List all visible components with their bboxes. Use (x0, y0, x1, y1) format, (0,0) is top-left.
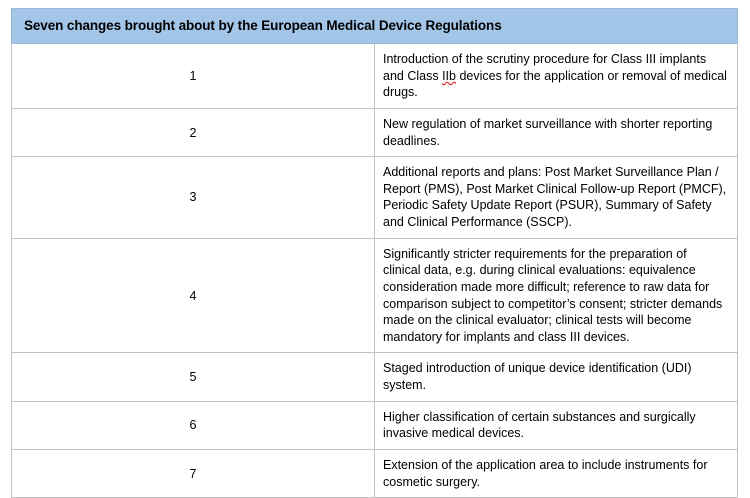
document-page: Seven changes brought about by the Europ… (0, 0, 750, 440)
row-text: Additional reports and plans: Post Marke… (375, 157, 738, 239)
row-text: Extension of the application area to inc… (375, 449, 738, 497)
table-row: 5 Staged introduction of unique device i… (12, 353, 738, 401)
table-header-row: Seven changes brought about by the Europ… (12, 9, 738, 44)
table-row: 6 Higher classification of certain subst… (12, 401, 738, 449)
row-text: Significantly stricter requirements for … (375, 238, 738, 353)
regulations-table: Seven changes brought about by the Europ… (11, 8, 738, 498)
row-number: 5 (12, 353, 375, 401)
row-text: Introduction of the scrutiny procedure f… (375, 44, 738, 109)
row-text: New regulation of market surveillance wi… (375, 108, 738, 156)
table-title-cell: Seven changes brought about by the Europ… (12, 9, 738, 44)
row-number: 1 (12, 44, 375, 109)
table-row: 4 Significantly stricter requirements fo… (12, 238, 738, 353)
table-row: 3 Additional reports and plans: Post Mar… (12, 157, 738, 239)
table-row: 2 New regulation of market surveillance … (12, 108, 738, 156)
row-text: Higher classification of certain substan… (375, 401, 738, 449)
row-number: 2 (12, 108, 375, 156)
row-number: 4 (12, 238, 375, 353)
row-number: 6 (12, 401, 375, 449)
table-row: 1 Introduction of the scrutiny procedure… (12, 44, 738, 109)
row-number: 3 (12, 157, 375, 239)
row-text: Staged introduction of unique device ide… (375, 353, 738, 401)
spellcheck-error-text: IIb (442, 69, 456, 83)
table-row: 7 Extension of the application area to i… (12, 449, 738, 497)
regulations-table-container: Seven changes brought about by the Europ… (11, 8, 738, 498)
page-title: Seven changes brought about by the Europ… (24, 18, 732, 34)
row-number: 7 (12, 449, 375, 497)
